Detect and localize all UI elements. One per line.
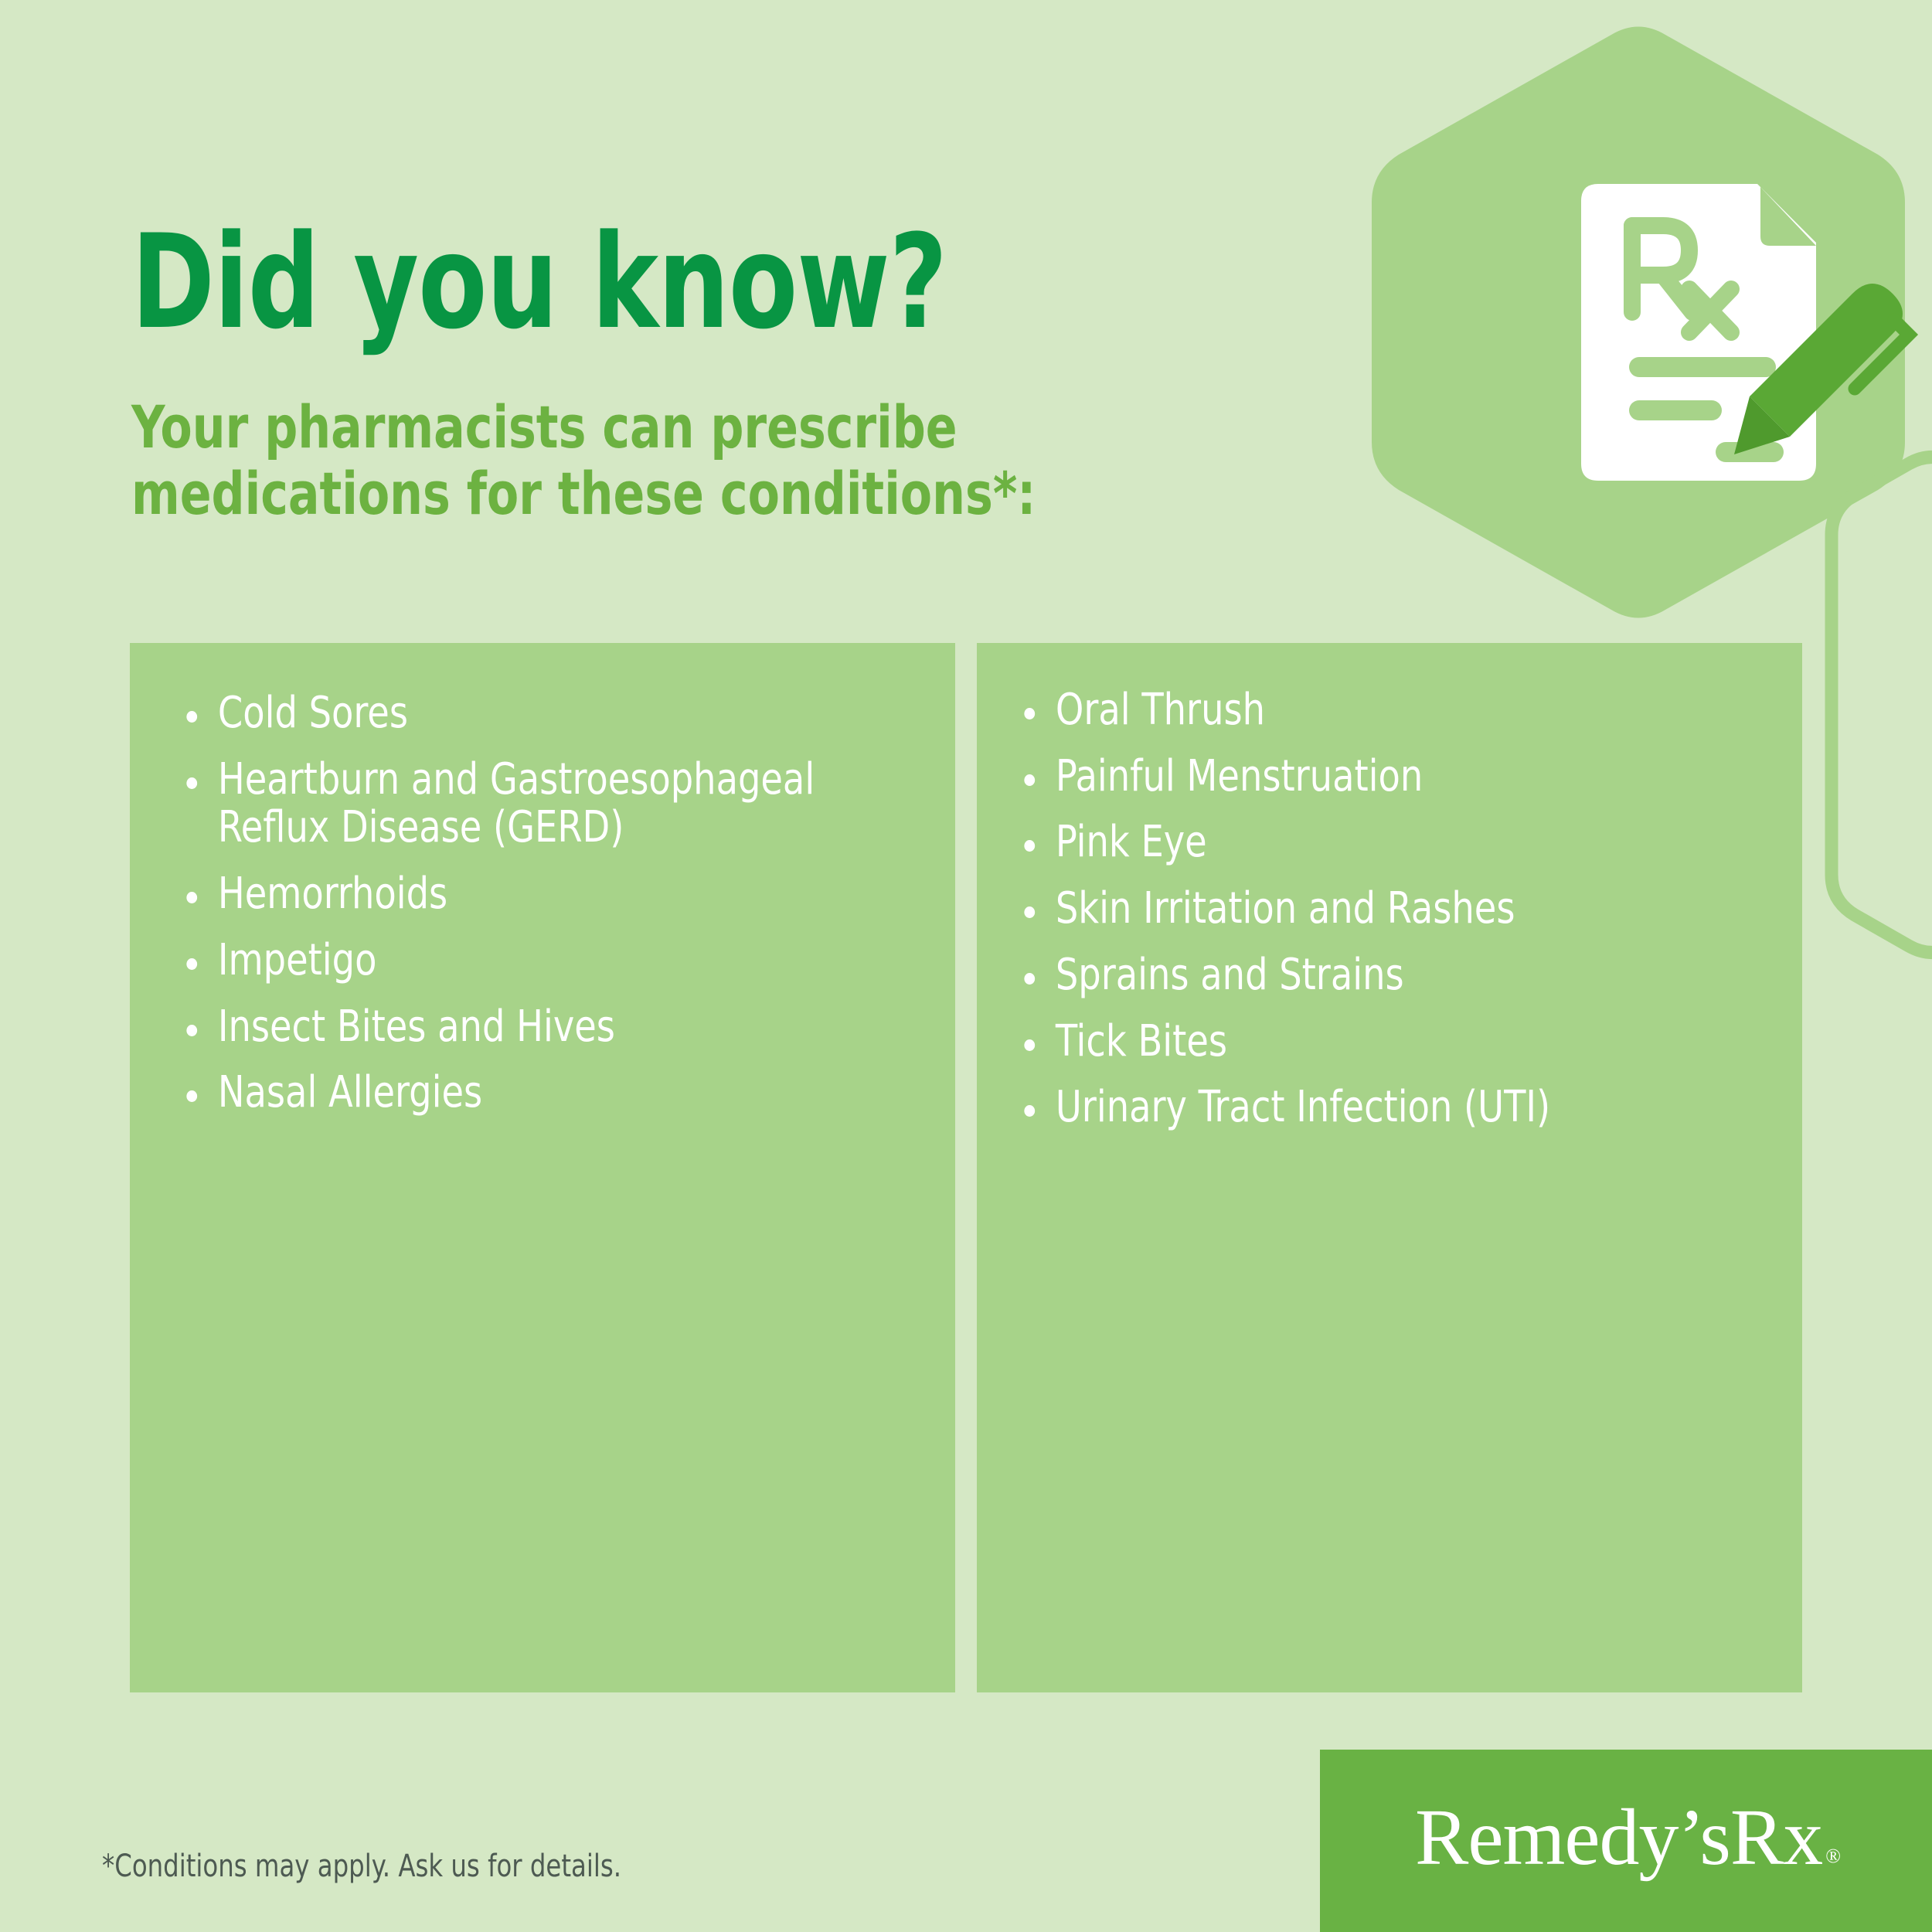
list-item: Impetigo: [181, 937, 865, 985]
paper-sheet: [1581, 184, 1816, 481]
pencil-icon: [1734, 284, 1909, 454]
list-item: Skin Irritation and Rashes: [1019, 885, 1711, 934]
page-title: Did you know?: [131, 217, 947, 347]
list-item: Hemorrhoids: [181, 870, 865, 919]
rx-prescription-icon: [1581, 184, 1909, 481]
hexagon-outline: [1832, 457, 1932, 953]
pencil-clip: [1855, 320, 1909, 389]
list-item: Oral Thrush: [1019, 686, 1711, 735]
list-item: Insect Bites and Hives: [181, 1003, 865, 1052]
signature-line: [1716, 442, 1784, 462]
hexagon-badge: [1372, 27, 1905, 618]
rx-glyph: [1632, 226, 1731, 332]
list-item: Tick Bites: [1019, 1018, 1711, 1066]
conditions-card-left: Cold Sores Heartburn and Gastroesophagea…: [130, 643, 955, 1692]
list-item: Sprains and Strains: [1019, 951, 1711, 1000]
paper-line-2: [1629, 400, 1722, 420]
conditions-list-left: Cold Sores Heartburn and Gastroesophagea…: [130, 643, 955, 1117]
list-item: Pink Eye: [1019, 818, 1711, 867]
list-item: Urinary Tract Infection (UTI): [1019, 1083, 1711, 1132]
conditions-card-right: Oral Thrush Painful Menstruation Pink Ey…: [977, 643, 1802, 1692]
conditions-list-right: Oral Thrush Painful Menstruation Pink Ey…: [977, 643, 1802, 1132]
paper-line-1: [1629, 357, 1776, 377]
poster-canvas: Did you know? Your pharmacists can presc…: [0, 0, 1932, 1932]
page-subtitle-line-2: medications for these conditions*:: [131, 461, 1036, 527]
page-subtitle: Your pharmacists can prescribe medicatio…: [131, 394, 1036, 527]
logo-wordmark-text: Remedy’sRx: [1415, 1793, 1822, 1882]
pencil-body: [1750, 284, 1903, 437]
registered-trademark-mark: ®: [1825, 1845, 1840, 1867]
page-subtitle-line-1: Your pharmacists can prescribe: [131, 393, 957, 461]
paper-fold: [1760, 187, 1816, 246]
list-item: Cold Sores: [181, 689, 865, 738]
list-item: Nasal Allergies: [181, 1069, 865, 1117]
footnote-disclaimer: *Conditions may apply. Ask us for detail…: [102, 1849, 621, 1884]
pencil-tip: [1734, 396, 1790, 454]
list-item: Heartburn and Gastroesophageal Reflux Di…: [181, 756, 865, 852]
brand-logo: Remedy’sRx®: [1320, 1750, 1932, 1932]
logo-wordmark: Remedy’sRx®: [1415, 1798, 1837, 1878]
list-item: Painful Menstruation: [1019, 753, 1711, 801]
